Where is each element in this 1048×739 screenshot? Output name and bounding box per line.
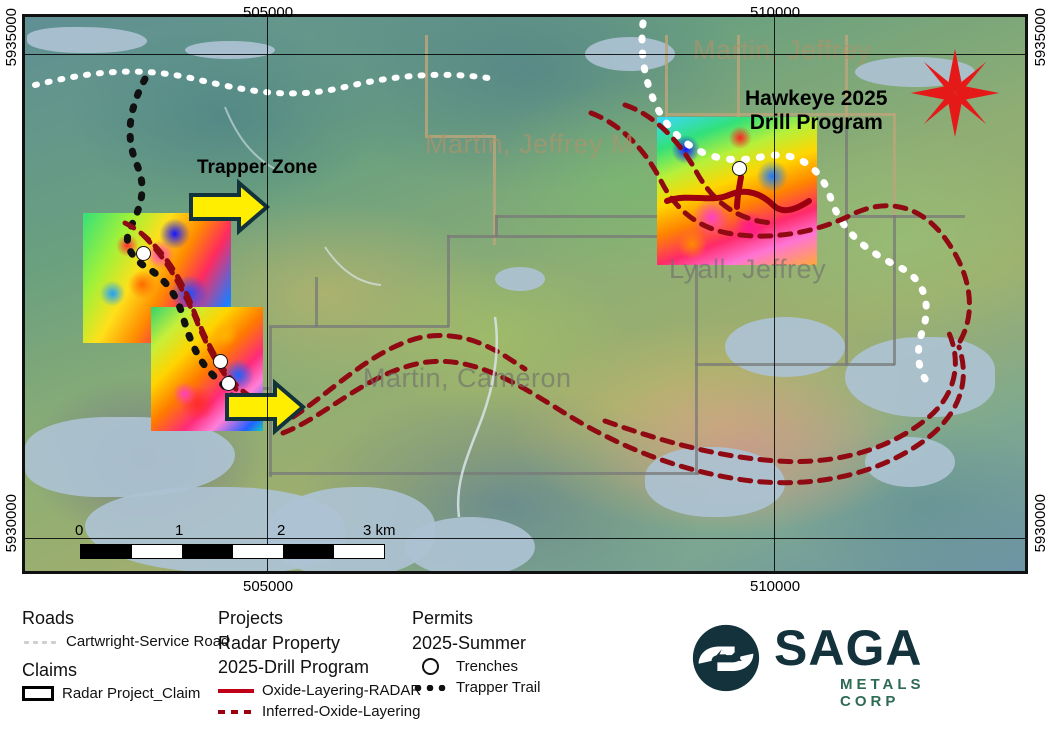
legend-item-cartwright-service-road[interactable]: Cartwright-Service Road [22,633,232,650]
scale-tick-2: 2 [277,522,285,539]
legend-label: Trenches [456,658,518,675]
axis-right-5930000: 5930000 [1032,494,1048,552]
legend-header-claims: Claims [22,660,232,681]
claim-label-lyall-jeffrey: Lyall, Jeffrey [669,254,826,285]
map-page: Martin, Jeffrey Martin, Jeffrey M Martin… [0,0,1048,739]
scale-tick-0: 0 [75,522,83,539]
claim-label-martin-jeffrey-top: Martin, Jeffrey [693,35,871,66]
axis-left-5930000: 5930000 [3,494,20,552]
legend-item-trenches[interactable]: Trenches [412,658,642,675]
legend-sub-2025-summer: 2025-Summer [412,633,642,654]
saga-subtitle: METALS CORP [840,676,990,710]
legend-sub-radar-property: Radar Property [218,633,438,654]
grid-line-505000 [267,17,268,571]
scale-tick-1: 1 [175,522,183,539]
legend-header-permits: Permits [412,608,642,629]
legend-item-trapper-trail[interactable]: Trapper Trail [412,679,642,696]
trench-marker[interactable] [136,246,151,261]
legend-item-oxide-layering-radar[interactable]: Oxide-Layering-RADAR [218,682,438,699]
map-title-line2: Drill Program [745,111,887,135]
legend-column-projects: Projects Radar Property 2025-Drill Progr… [218,608,438,724]
solid-red-line-icon [218,684,254,698]
trench-marker[interactable] [732,161,747,176]
axis-top-510000: 510000 [750,4,800,21]
dashed-red-line-icon [218,705,254,719]
legend-column-permits: Permits 2025-Summer Trenches Trapper Tra… [412,608,642,700]
legend-label: Radar Project_Claim [62,685,200,702]
legend-column-roads-claims: Roads Cartwright-Service Road Claims Rad… [22,608,232,706]
claim-box-icon [22,686,54,701]
grid-line-510000 [774,17,775,571]
axis-left-5935000: 5935000 [3,8,20,66]
legend-item-radar-project-claim[interactable]: Radar Project_Claim [22,685,232,702]
trapper-zone-arrow-upper [191,183,267,231]
axis-right-5935000: 5935000 [1032,8,1048,66]
trench-marker[interactable] [213,354,228,369]
dotted-gray-line-icon [22,635,58,649]
scale-tick-3: 3 km [363,522,396,539]
legend-item-inferred-oxide-layering[interactable]: Inferred-Oxide-Layering [218,703,438,720]
black-dots-line-icon [412,681,448,695]
claim-label-martin-jeffrey-m: Martin, Jeffrey M [425,129,634,160]
axis-bottom-510000: 510000 [750,578,800,595]
grid-line-5935000 [25,54,1025,55]
claim-label-martin-cameron: Martin, Cameron [363,363,572,394]
compass-star-icon [909,47,1001,139]
map-canvas[interactable]: Martin, Jeffrey Martin, Jeffrey M Martin… [25,17,1025,571]
legend-sub-2025-drill-program: 2025-Drill Program [218,657,438,678]
scale-bar [80,544,385,559]
legend-label: Cartwright-Service Road [66,633,229,650]
saga-wordmark: SAGA [774,622,922,674]
legend-header-roads: Roads [22,608,232,629]
saga-logo: SAGA METALS CORP [690,618,990,702]
trapper-zone-arrow-lower [227,383,303,431]
legend-label: Trapper Trail [456,679,540,696]
saga-circle-mountain-icon [690,622,762,694]
trapper-zone-label: Trapper Zone [197,157,317,179]
legend-label: Inferred-Oxide-Layering [262,703,420,720]
axis-bottom-505000: 505000 [243,578,293,595]
axis-top-505000: 505000 [243,4,293,21]
map-frame[interactable]: Martin, Jeffrey Martin, Jeffrey M Martin… [22,14,1028,574]
trench-marker[interactable] [221,376,236,391]
open-circle-icon [412,660,448,674]
map-title-line1: Hawkeye 2025 [745,87,887,111]
legend-header-projects: Projects [218,608,438,629]
legend-label: Oxide-Layering-RADAR [262,682,421,699]
